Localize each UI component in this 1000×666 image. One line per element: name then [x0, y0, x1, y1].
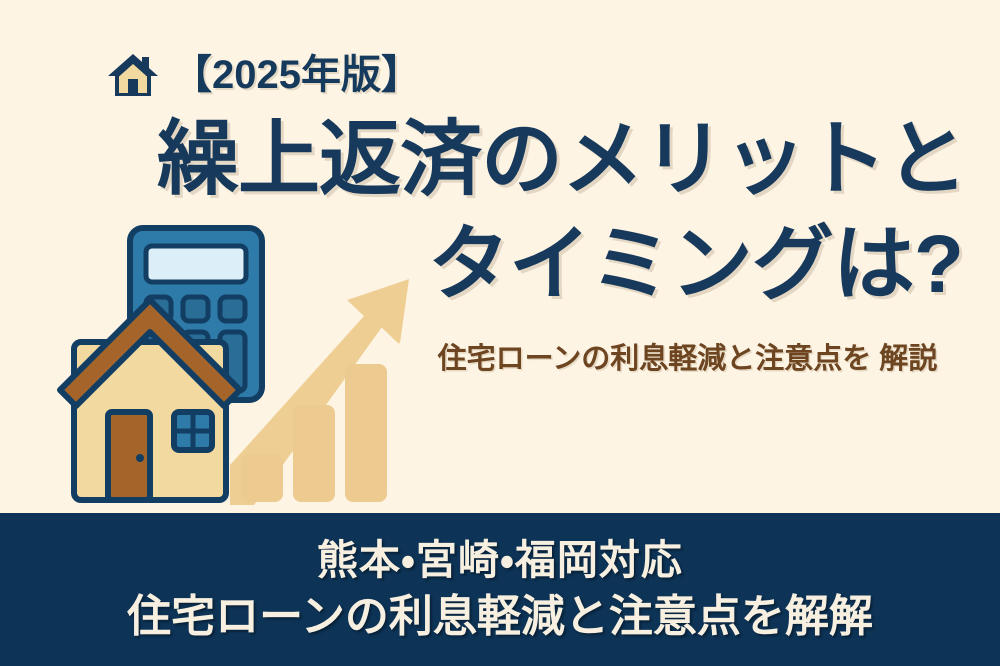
page-subtitle: 住宅ローンの利息軽減と注意点を 解説 [405, 336, 970, 383]
home-icon [104, 46, 162, 104]
page-subtitle-line-2: 解説 [879, 343, 937, 375]
banner-line-2: 住宅ローンの利息軽減と注意点を解解 [127, 589, 873, 644]
poster-canvas: 【2025年版】 繰上返済のメリットと タイミングは? 住宅ローンの利息軽減と注… [0, 0, 1000, 666]
bottom-banner: 熊本・宮崎・福岡対応 住宅ローンの利息軽減と注意点を解解 [0, 513, 1000, 666]
page-title-line-1: 繰上返済のメリットと [0, 108, 985, 213]
house-calculator-growth-chart-illustration [48, 222, 420, 512]
eyebrow-label: 【2025年版】 [172, 55, 421, 95]
eyebrow-row: 【2025年版】 [104, 46, 421, 104]
banner-line-1: 熊本・宮崎・福岡対応 [317, 535, 683, 586]
page-subtitle-line-1: 住宅ローンの利息軽減と注意点を [438, 343, 872, 375]
